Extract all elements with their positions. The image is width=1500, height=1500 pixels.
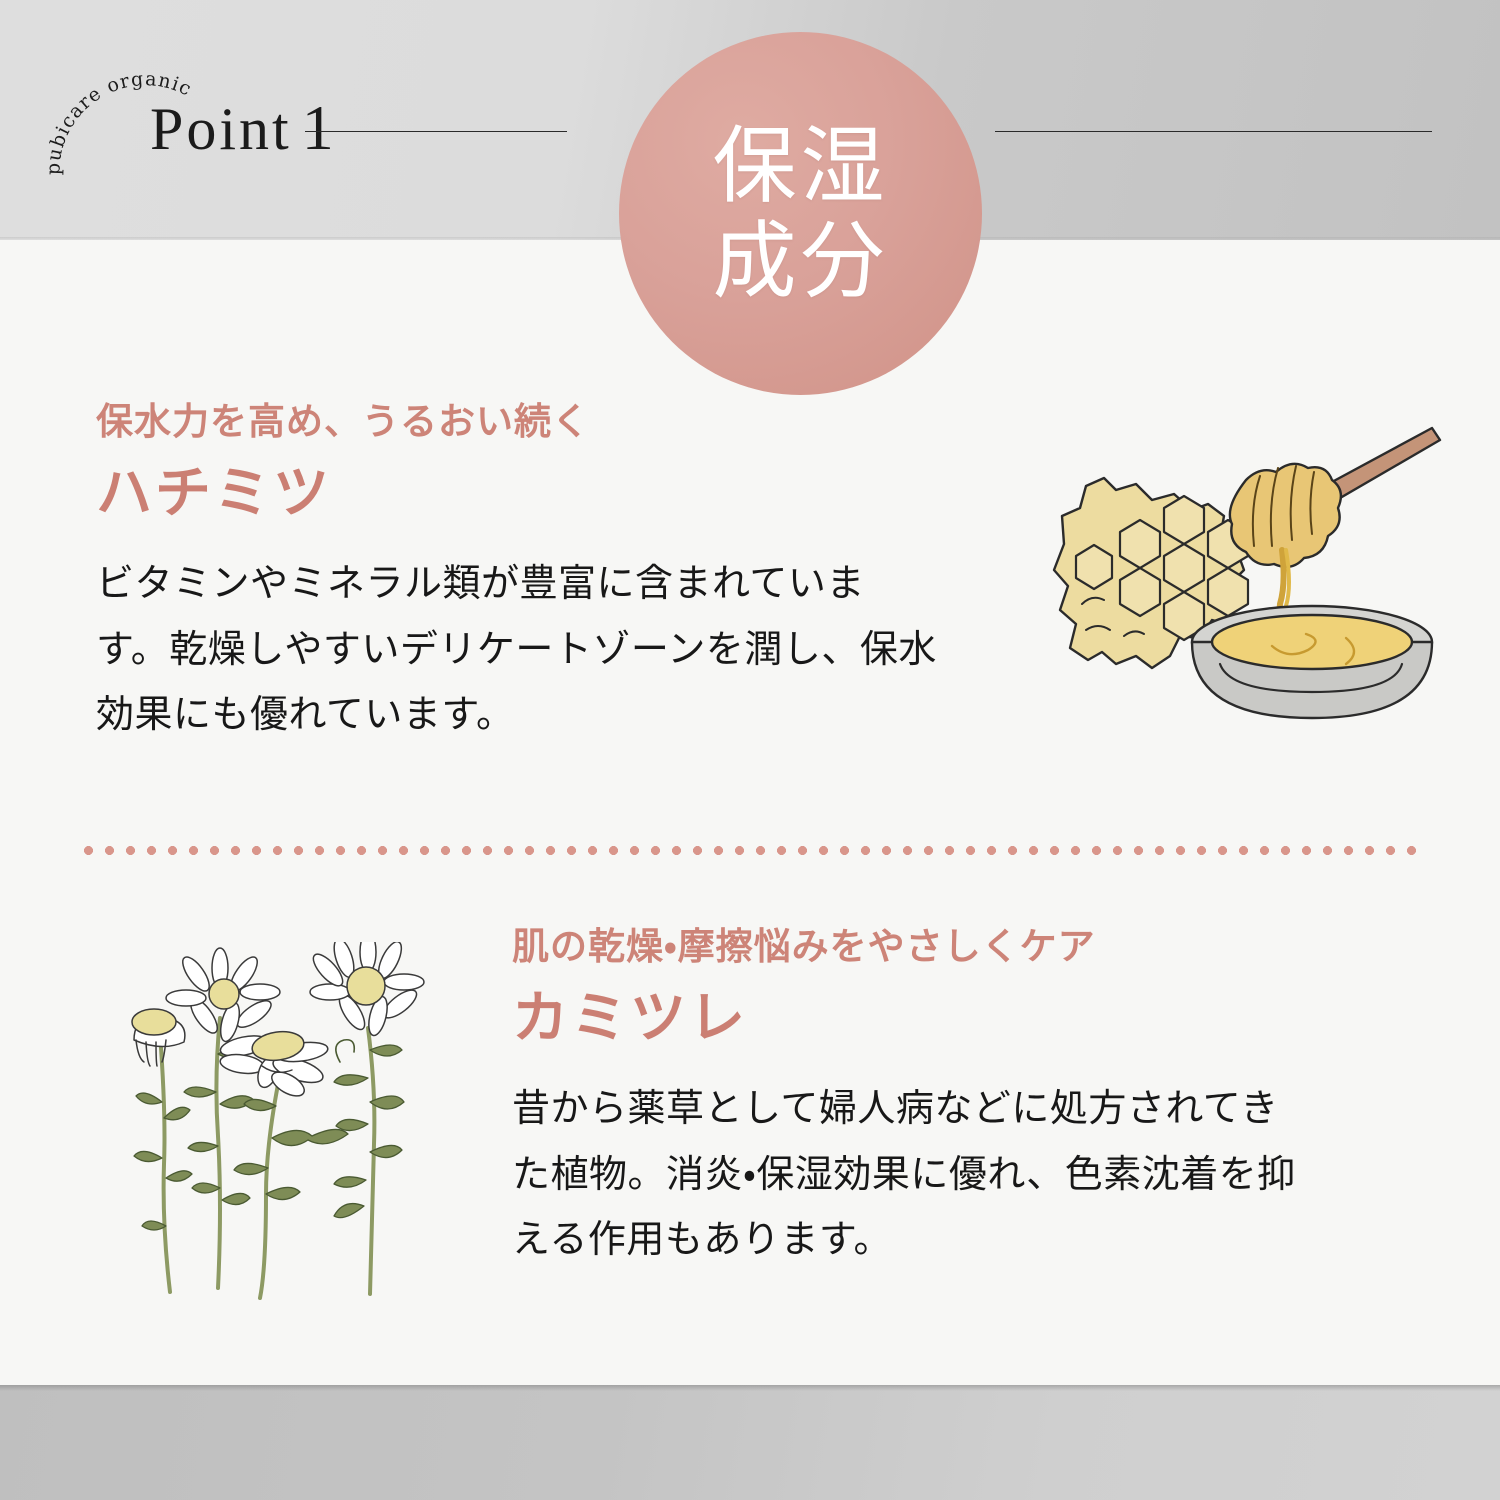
chamomile-text-block: 肌の乾燥・摩擦悩みをやさしくケア カミツレ 昔から薬草として婦人病などに処方され…	[512, 925, 1462, 1273]
dotted-divider	[78, 846, 1423, 855]
chamomile-name: カミツレ	[512, 983, 1462, 1053]
chamomile-lead: 肌の乾燥・摩擦悩みをやさしくケア	[512, 925, 1462, 969]
infographic-page: pubicare organic Point1 保湿 成分 保水力を高め、うるお…	[0, 0, 1500, 1500]
chamomile-body-line-2: た植物。消炎・保湿効果に優れ、色素沈着を抑	[512, 1143, 1462, 1208]
honey-name: ハチミツ	[96, 458, 1036, 528]
chamomile-body-line-3: える作用もあります。	[512, 1208, 1462, 1273]
honey-text-block: 保水力を高め、うるおい続く ハチミツ ビタミンやミネラル類が豊富に含まれていま …	[96, 400, 1036, 748]
point-title-text: Point1	[150, 96, 337, 160]
honey-illustration	[1024, 424, 1444, 754]
badge-label: 保湿 成分	[712, 119, 888, 307]
chamomile-body-line-1: 昔から薬草として婦人病などに処方されてき	[512, 1077, 1462, 1142]
divider-rule-left	[305, 131, 567, 132]
chamomile-body: 昔から薬草として婦人病などに処方されてき た植物。消炎・保湿効果に優れ、色素沈着…	[512, 1077, 1462, 1273]
point-heading: pubicare organic Point1	[40, 58, 340, 188]
honey-body-line-3: 効果にも優れています。	[96, 683, 1036, 748]
divider-rule-right	[995, 131, 1432, 132]
honey-lead: 保水力を高め、うるおい続く	[96, 400, 1036, 444]
honey-body: ビタミンやミネラル類が豊富に含まれていま す。乾燥しやすいデリケートゾーンを潤し…	[96, 552, 1036, 748]
honey-body-line-1: ビタミンやミネラル類が豊富に含まれていま	[96, 552, 1036, 617]
point-word: Point	[150, 96, 292, 162]
footer-band	[0, 1385, 1500, 1500]
badge-label-line1: 保湿	[712, 119, 888, 213]
point-number: 1	[302, 92, 337, 163]
category-badge: 保湿 成分	[619, 32, 982, 395]
badge-label-line2: 成分	[712, 214, 888, 308]
honey-body-line-2: す。乾燥しやすいデリケートゾーンを潤し、保水	[96, 618, 1036, 683]
chamomile-illustration	[112, 942, 452, 1302]
